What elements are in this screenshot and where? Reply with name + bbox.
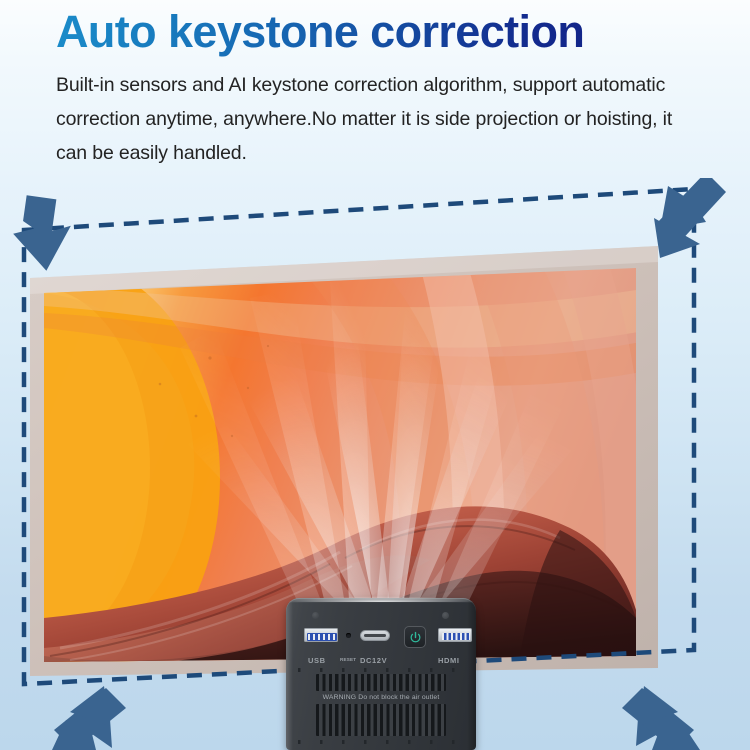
usb-pins-icon — [308, 634, 336, 640]
power-icon — [409, 631, 422, 644]
arrow-bottom-left — [52, 686, 126, 750]
page-subtitle: Built-in sensors and AI keystone correct… — [56, 68, 701, 170]
vent-dot-row-top — [298, 668, 464, 672]
arrow-top-right — [654, 178, 726, 258]
mini-projector[interactable]: USB RESET DC12V HDMI WARNING Do not bloc… — [286, 598, 476, 750]
projector-left-highlight — [286, 598, 293, 750]
hdmi-port-label: HDMI — [438, 656, 460, 665]
port-row — [286, 626, 476, 656]
arrow-top-left — [9, 194, 74, 273]
projection-scene: USB RESET DC12V HDMI WARNING Do not bloc… — [0, 178, 750, 750]
lens-glow — [286, 596, 476, 602]
air-vent-upper — [316, 674, 446, 691]
header-section: Auto keystone correction Built-in sensor… — [0, 0, 750, 178]
arrow-bottom-right — [622, 686, 700, 750]
projector-right-shadow — [467, 598, 476, 750]
dc-power-port[interactable] — [360, 630, 390, 641]
screw-right — [442, 612, 449, 619]
reset-pinhole[interactable] — [346, 633, 351, 638]
hdmi-port[interactable] — [438, 628, 472, 642]
page-title: Auto keystone correction — [56, 6, 584, 58]
reset-label: RESET — [340, 657, 356, 662]
usb-port-label: USB — [308, 656, 326, 665]
projector-body: USB RESET DC12V HDMI WARNING Do not bloc… — [286, 598, 476, 750]
usb-port[interactable] — [304, 628, 338, 642]
dc-port-label: DC12V — [360, 656, 387, 665]
hdmi-pins-icon — [442, 633, 470, 640]
power-button[interactable] — [404, 626, 426, 648]
warning-label: WARNING Do not block the air outlet — [286, 694, 476, 701]
air-vent-lower — [316, 704, 446, 736]
screw-left — [312, 612, 319, 619]
vent-dot-row-bottom — [298, 740, 464, 744]
